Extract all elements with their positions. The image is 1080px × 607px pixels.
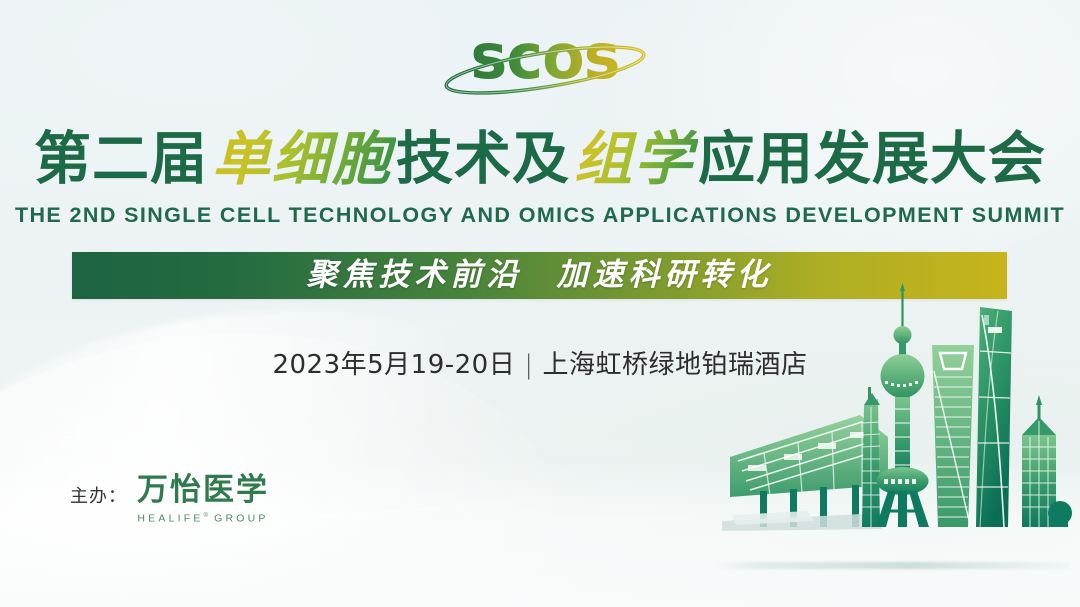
page-title: 第二届单细胞技术及组学应用发展大会 xyxy=(0,124,1080,198)
registered-mark-icon: ® xyxy=(204,513,208,519)
title-script-segment-2: 组学 xyxy=(570,124,698,194)
organizer-label: 主办： xyxy=(70,482,127,518)
date-venue-separator: | xyxy=(515,350,542,380)
oriental-pearl-tower xyxy=(876,283,929,527)
organizer-block: 主办： 万怡医学 HEALIFE® GROUP xyxy=(70,473,269,527)
background-sweep-curve xyxy=(0,279,513,585)
shanghai-world-financial-center xyxy=(932,345,974,527)
slogan-left: 聚焦技术前沿 xyxy=(307,257,523,293)
decor-bubble-3 xyxy=(18,477,26,485)
title-segment-2: 技术及 xyxy=(396,124,570,194)
jin-mao-tower xyxy=(862,387,880,527)
conference-poster: scos 第二届单细胞技术及组学应用发展大会 THE 2ND SINGLE CE… xyxy=(0,0,1080,607)
title-script-segment-1: 单细胞 xyxy=(208,124,396,194)
svg-text:scos: scos xyxy=(470,22,619,93)
scos-logo-icon: scos xyxy=(440,22,650,96)
background-glow-bottom-left xyxy=(0,281,616,607)
classic-highrise xyxy=(1022,395,1072,527)
decor-bubble-2 xyxy=(96,464,103,471)
shanghai-skyline-illustration xyxy=(712,275,1072,565)
decor-bubble-1 xyxy=(62,436,73,447)
title-segment-1: 第二届 xyxy=(34,124,208,194)
organizer-name-en-suffix: GROUP xyxy=(214,513,269,525)
organizer-name-en-main: HEALIFE xyxy=(137,513,203,525)
event-date: 2023年5月19-20日 xyxy=(272,350,515,380)
scos-logo: scos xyxy=(440,22,650,96)
shanghai-tower xyxy=(976,307,1012,527)
title-segment-3: 应用发展大会 xyxy=(698,124,1046,194)
organizer-name-cn: 万怡医学 xyxy=(137,473,269,507)
organizer-name-en: HEALIFE® GROUP xyxy=(137,509,268,527)
decor-bubble-4 xyxy=(128,433,134,439)
skyline-icon xyxy=(712,275,1072,565)
page-subtitle-english: THE 2ND SINGLE CELL TECHNOLOGY AND OMICS… xyxy=(0,203,1080,228)
organizer-logo: 万怡医学 HEALIFE® GROUP xyxy=(137,473,269,527)
